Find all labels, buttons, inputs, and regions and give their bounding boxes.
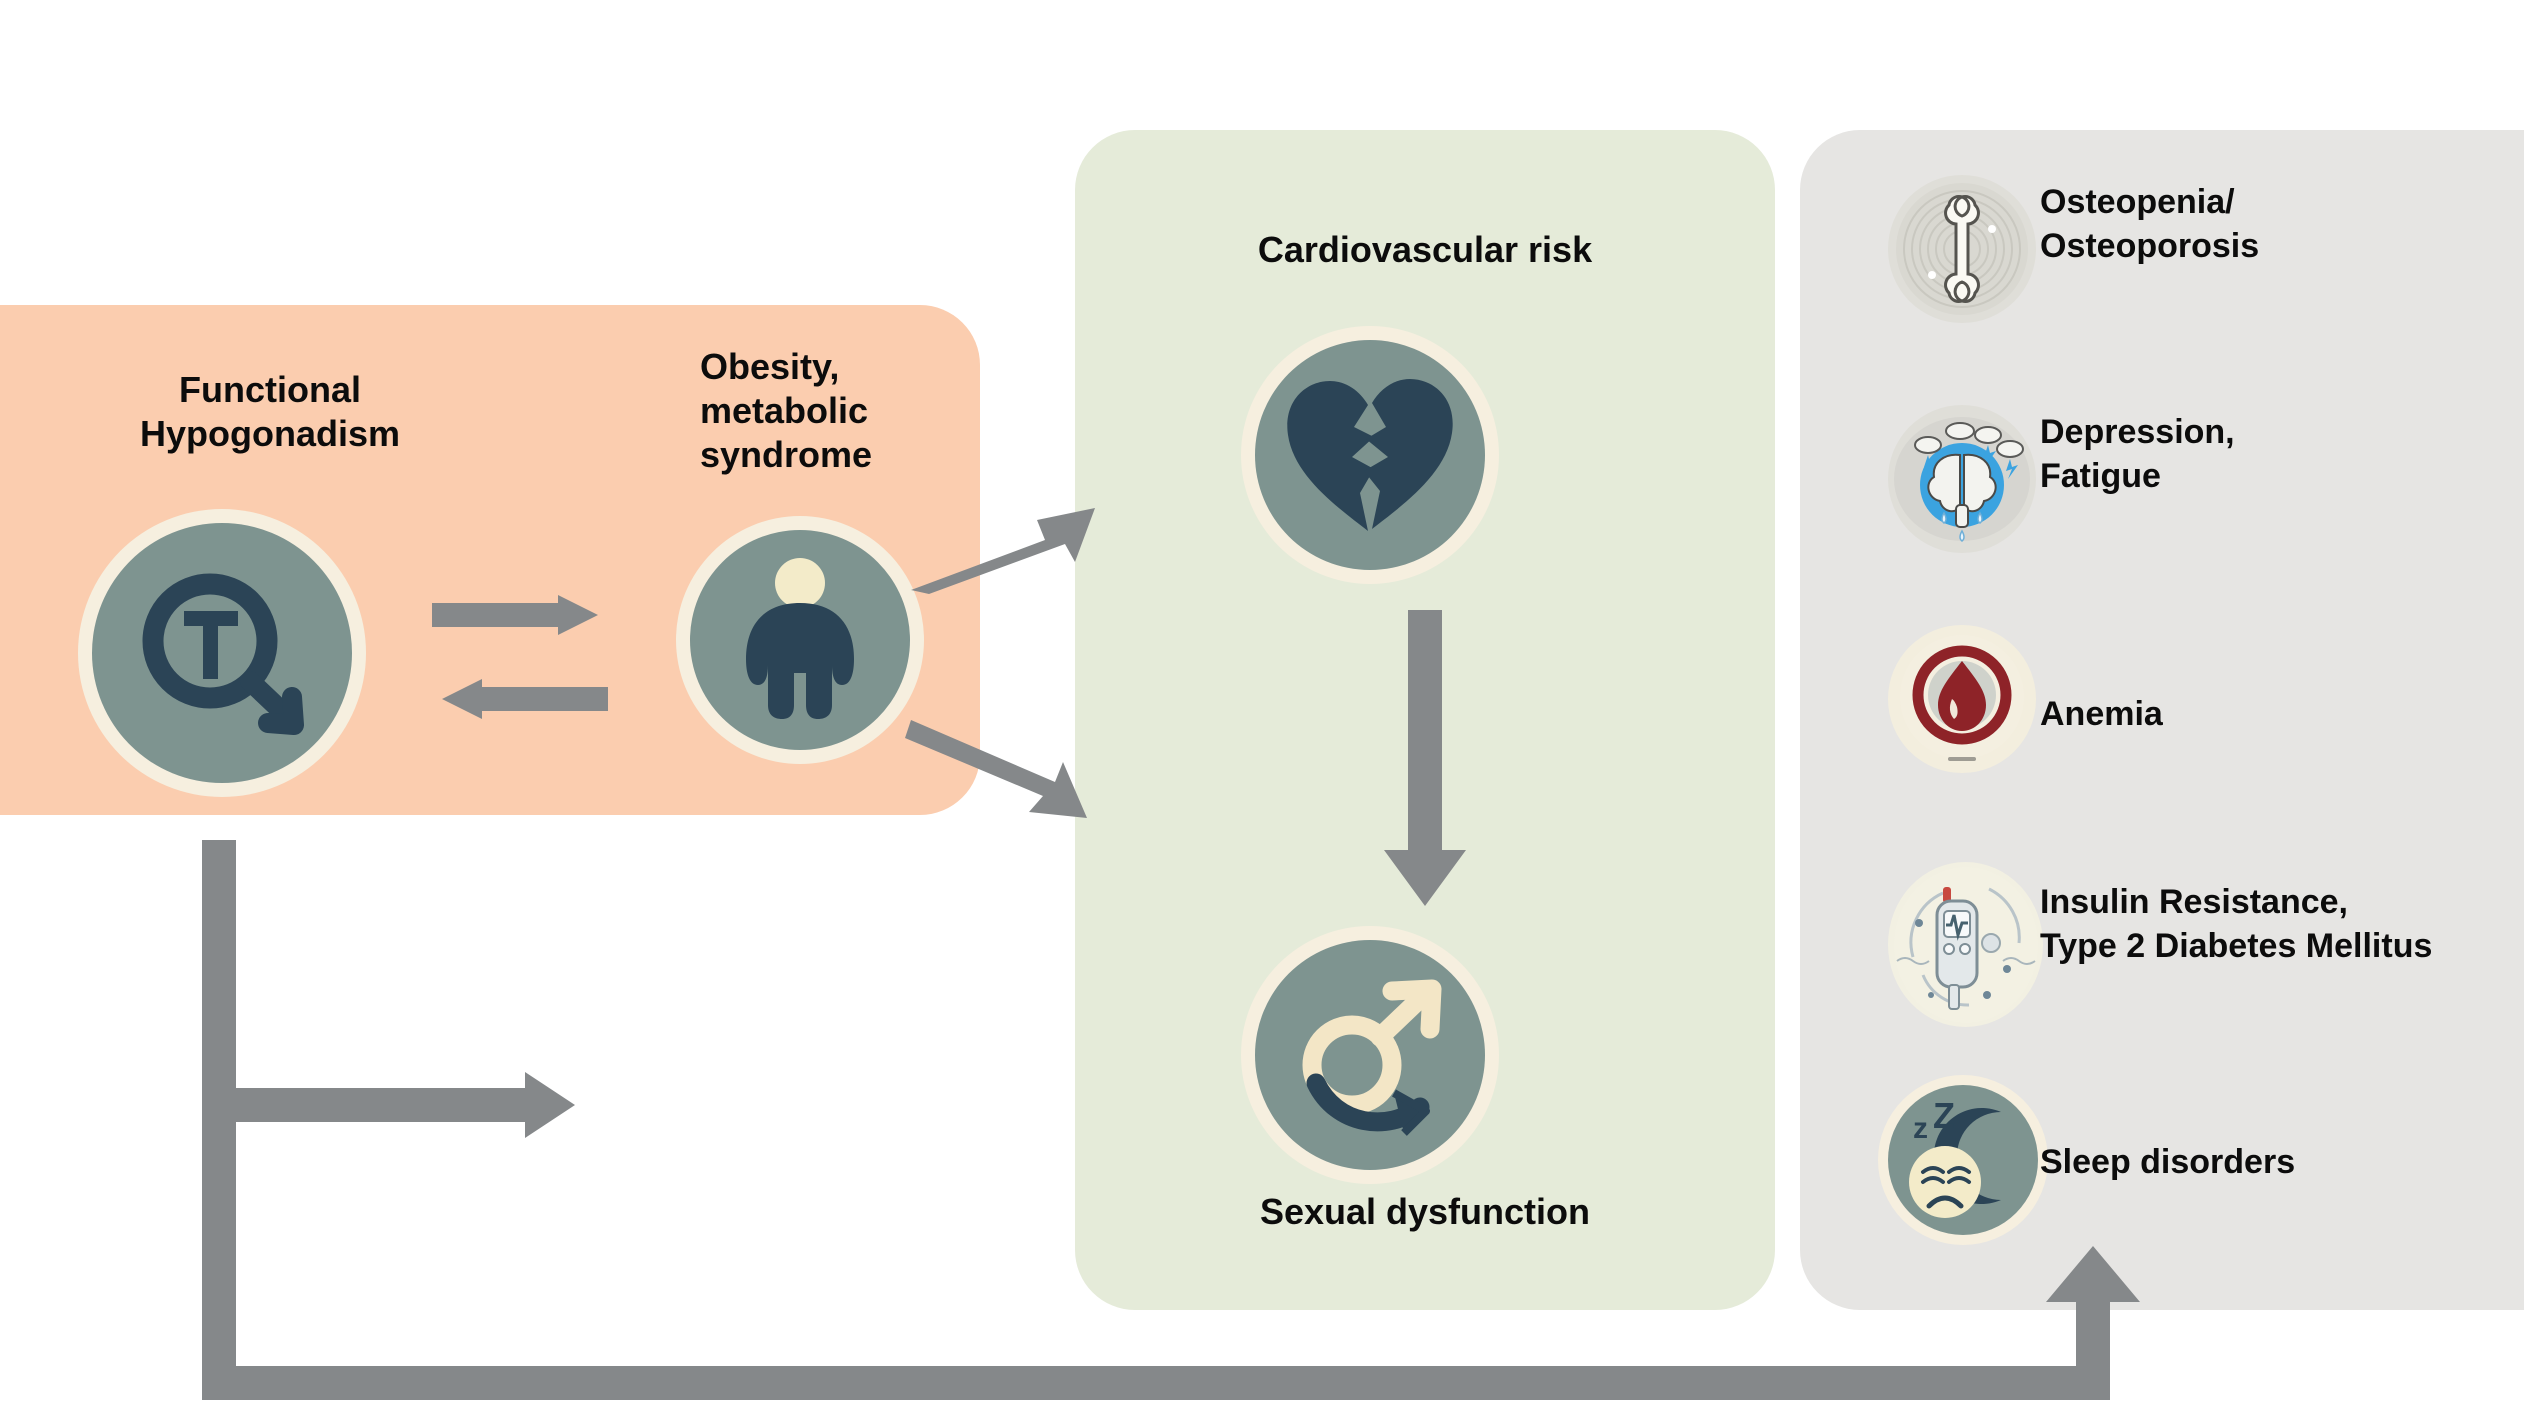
arrow-diagonal-up-right bbox=[905, 490, 1105, 600]
arrow-diagonal-down-right bbox=[905, 700, 1105, 830]
bone-icon bbox=[1888, 175, 2036, 323]
bidirectional-arrow-pair bbox=[430, 595, 610, 725]
feedback-loop-arrows bbox=[180, 840, 2200, 1420]
arrow-right-branch bbox=[202, 1072, 575, 1138]
broken-heart-icon bbox=[1255, 340, 1485, 570]
obese-person-icon bbox=[690, 530, 910, 750]
label-cardiovascular-risk: Cardiovascular risk bbox=[1105, 228, 1745, 272]
label-depression-fatigue: Depression, Fatigue bbox=[2040, 410, 2235, 498]
diagram-canvas: Functional Hypogonadism Obesity, metabol… bbox=[0, 0, 2524, 1426]
blood-drop-glyph bbox=[1892, 629, 2032, 769]
broken-heart-glyph bbox=[1280, 373, 1460, 538]
testosterone-glyph bbox=[122, 553, 322, 753]
arrow-left bbox=[442, 679, 608, 719]
arrow-right bbox=[432, 595, 598, 635]
label-functional-hypogonadism: Functional Hypogonadism bbox=[60, 368, 480, 456]
obese-person-glyph bbox=[720, 555, 880, 725]
rainy-brain-icon bbox=[1888, 405, 2036, 553]
bone-glyph bbox=[1892, 179, 2032, 319]
testosterone-magnifier-icon bbox=[92, 523, 352, 783]
label-osteopenia-osteoporosis: Osteopenia/ Osteoporosis bbox=[2040, 180, 2259, 268]
label-anemia: Anemia bbox=[2040, 692, 2163, 736]
loop-bottom-run bbox=[202, 1366, 2110, 1400]
label-obesity-metabolic-syndrome: Obesity, metabolic syndrome bbox=[700, 345, 1000, 477]
blood-drop-icon bbox=[1888, 625, 2036, 773]
rainy-brain-glyph bbox=[1892, 409, 2032, 549]
